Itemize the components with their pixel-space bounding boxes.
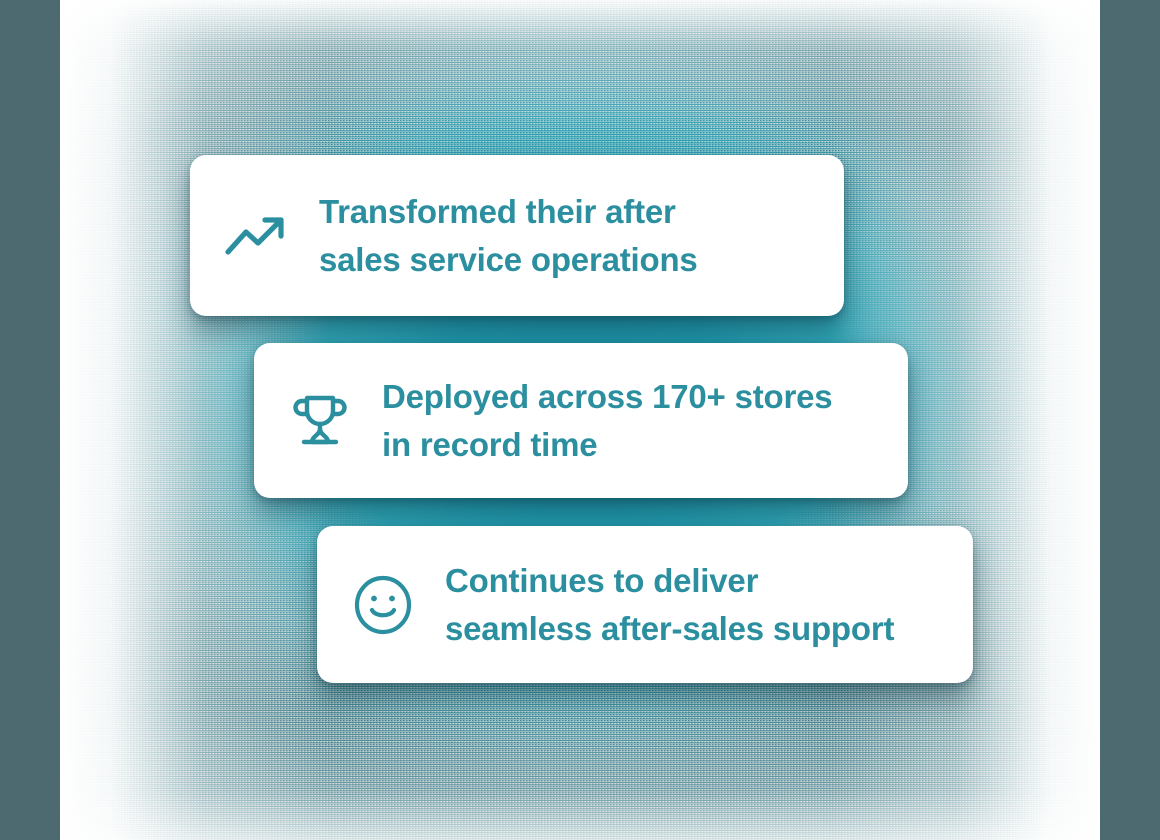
smiley-face-icon bbox=[351, 573, 415, 637]
frame-rail-left bbox=[0, 0, 60, 840]
highlight-card-1: Transformed their after sales service op… bbox=[190, 155, 844, 316]
highlight-card-1-text: Transformed their after sales service op… bbox=[319, 188, 698, 284]
trophy-icon bbox=[288, 389, 352, 453]
highlight-card-3-text: Continues to deliver seamless after-sale… bbox=[445, 557, 894, 653]
highlight-card-3: Continues to deliver seamless after-sale… bbox=[317, 526, 973, 683]
highlights-graphic: Transformed their after sales service op… bbox=[0, 0, 1160, 840]
trending-up-icon bbox=[224, 204, 288, 268]
highlight-card-2-text: Deployed across 170+ stores in record ti… bbox=[382, 373, 832, 469]
frame-rail-right bbox=[1100, 0, 1160, 840]
highlight-card-2: Deployed across 170+ stores in record ti… bbox=[254, 343, 908, 498]
